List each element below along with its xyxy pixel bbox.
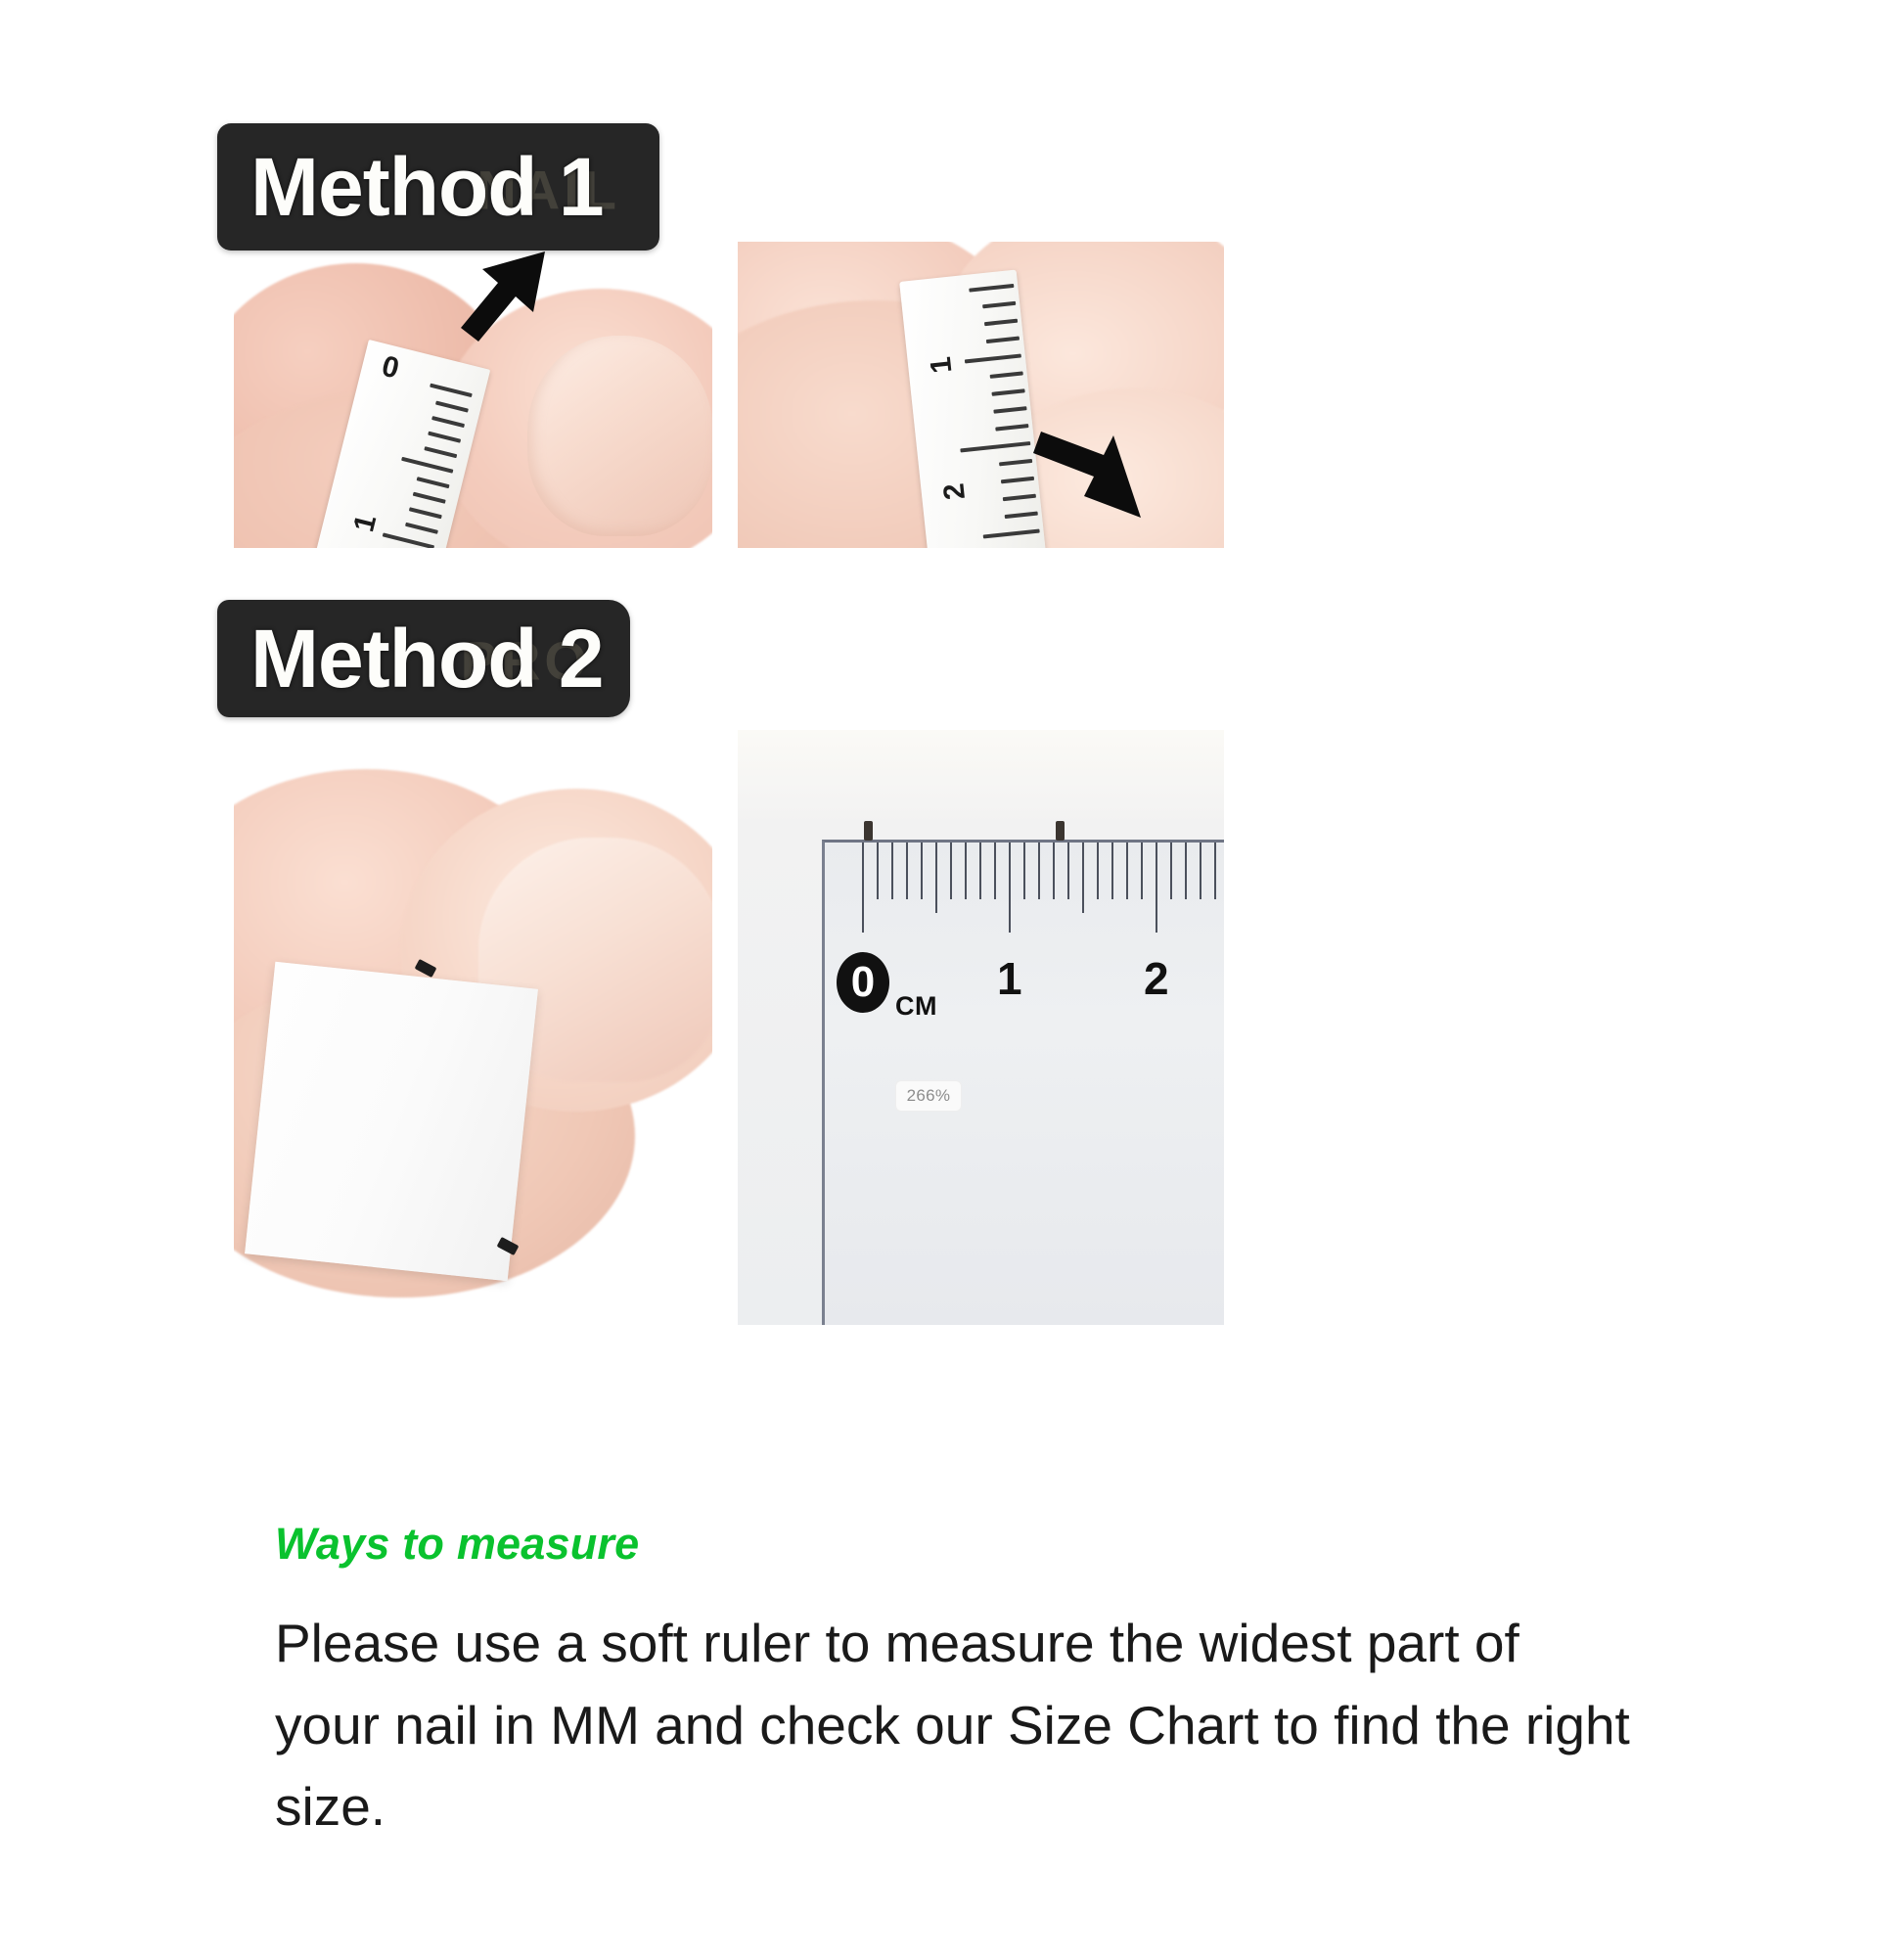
zoom-level-badge: 266% <box>895 1080 962 1112</box>
ruler-number-2: 2 <box>1144 956 1169 1001</box>
pointer-arrow-icon <box>439 248 557 365</box>
plastic-ruler: 0 CM 1 2 3 <box>822 840 1224 1325</box>
paper-strip <box>245 962 538 1282</box>
ruler-number-1: 1 <box>997 956 1022 1001</box>
tape-number-1: 1 <box>349 512 382 534</box>
method-1-label: Method 1 <box>250 146 604 228</box>
ruler-unit-label: CM <box>895 991 937 1022</box>
pointer-arrow-icon <box>1020 424 1147 531</box>
method-2-photo-left <box>234 730 712 1325</box>
method-2-photo-right: 0 CM 1 2 3 <box>738 730 1224 1325</box>
ruler-nub-right <box>1056 821 1065 841</box>
method-2-label: Method 2 <box>250 617 604 700</box>
ways-to-measure-heading: Ways to measure <box>275 1519 639 1570</box>
method-2-badge: PRO Method 2 <box>217 600 630 717</box>
tape-number-0: 0 <box>379 352 401 385</box>
tape-number-2: 2 <box>939 481 971 501</box>
method-1-photo-left: 0 1 <box>234 242 712 548</box>
size-guide-page: NAIL Method 1 0 1 <box>0 0 1904 1960</box>
ruler-zero-marker: 0 <box>837 952 889 1013</box>
method-1-photo-right: 1 2 <box>738 242 1224 548</box>
measure-instructions-text: Please use a soft ruler to measure the w… <box>275 1603 1635 1848</box>
ruler-nub-left <box>864 821 873 841</box>
fingernail <box>527 336 712 536</box>
tape-number-1: 1 <box>927 355 958 375</box>
method-1-badge: NAIL Method 1 <box>217 123 659 251</box>
